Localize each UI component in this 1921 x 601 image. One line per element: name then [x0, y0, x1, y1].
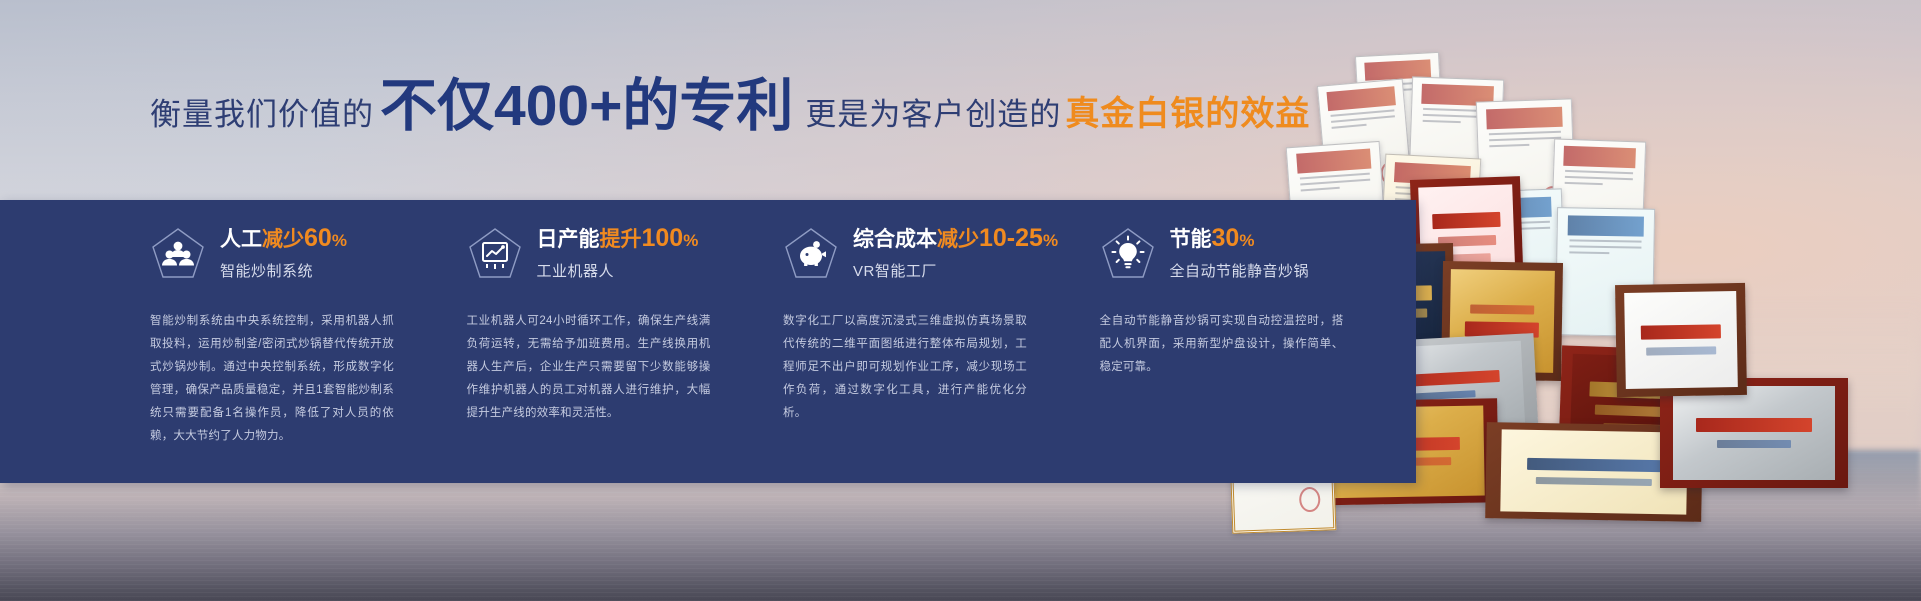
piggy-bank-icon	[783, 226, 839, 282]
award-plaque	[1615, 283, 1747, 397]
certificate-line	[1489, 131, 1560, 135]
certificate-line	[1300, 179, 1370, 186]
feature-title-accent: 减少	[937, 228, 979, 251]
feature-title-unit: %	[1043, 231, 1058, 250]
certificate-line	[1569, 239, 1642, 242]
award-text-bar	[1536, 477, 1651, 486]
award-text-bar	[1646, 346, 1715, 356]
certificate-line	[1569, 251, 1609, 254]
headline-mid: 更是为客户创造的	[805, 89, 1061, 134]
certificate-line	[1565, 176, 1633, 180]
feature-texts: 人工减少60% 智能炒制系统	[220, 222, 347, 281]
award-title-bar	[1640, 324, 1721, 340]
feature-subtitle: 工业机器人	[537, 260, 699, 281]
certificate-header	[1486, 106, 1562, 129]
feature-title-prefix: 节能	[1170, 228, 1212, 251]
feature-title-prefix: 人工	[220, 228, 262, 251]
feature-texts: 节能30% 全自动节能静音炒锅	[1170, 222, 1310, 281]
certificate-line	[1490, 144, 1530, 147]
feature-header: 人工减少60% 智能炒制系统	[150, 222, 467, 294]
feature-title-unit: %	[1239, 231, 1254, 250]
features-panel: 人工减少60% 智能炒制系统 智能炒制系统由中央系统控制，采用机器人抓取投料，运…	[0, 200, 1416, 483]
feature-item[interactable]: 日产能提升100% 工业机器人 工业机器人可24小时循环工作，确保生产线满负荷运…	[467, 222, 784, 472]
chart-board-icon	[467, 226, 523, 282]
feature-title: 人工减少60%	[220, 228, 347, 251]
feature-header: 节能30% 全自动节能静音炒锅	[1100, 222, 1417, 294]
award-title-bar	[1696, 418, 1812, 432]
award-title-bar	[1432, 212, 1501, 230]
certificate-line	[1569, 245, 1642, 248]
feature-body: 全自动节能静音炒锅可实现自动控温控时，搭配人机界面，采用新型炉盘设计，操作简单、…	[1100, 310, 1344, 379]
feature-title-number: 100	[642, 224, 684, 252]
feature-title-unit: %	[683, 231, 698, 250]
headline: 衡量我们价值的 不仅400+的专利 更是为客户创造的 真金白银的效益	[150, 78, 1330, 136]
feature-texts: 综合成本减少10-25% VR智能工厂	[853, 222, 1058, 281]
feature-title: 日产能提升100%	[537, 228, 699, 251]
award-title-bar	[1527, 458, 1661, 473]
certificate-line	[1422, 120, 1460, 123]
award-text-bar	[1470, 304, 1534, 314]
certificate-line	[1489, 137, 1560, 141]
certificate-header	[1567, 215, 1644, 236]
feature-body: 工业机器人可24小时循环工作，确保生产线满负荷运转，无需给予加班费用。生产线换用…	[467, 310, 711, 425]
headline-highlight: 真金白银的效益	[1065, 86, 1310, 135]
certificate-line	[1331, 115, 1395, 123]
certificate-header	[1296, 149, 1371, 174]
headline-lead: 衡量我们价值的	[150, 89, 374, 134]
feature-title-number: 60	[304, 224, 332, 252]
banner-stage: 衡量我们价值的 不仅400+的专利 更是为客户创造的 真金白银的效益	[0, 0, 1921, 601]
lightbulb-icon	[1100, 226, 1156, 282]
feature-title-prefix: 日产能	[537, 228, 600, 251]
feature-body: 智能炒制系统由中央系统控制，采用机器人抓取投料，运用炒制釜/密闭式炒锅替代传统开…	[150, 310, 394, 448]
certificate-seal	[1299, 487, 1321, 513]
feature-subtitle: 全自动节能静音炒锅	[1170, 260, 1310, 281]
feature-title-number: 10-25	[979, 224, 1043, 252]
feature-texts: 日产能提升100% 工业机器人	[537, 222, 699, 281]
feature-title-accent: 提升	[600, 228, 642, 251]
feature-title: 综合成本减少10-25%	[853, 228, 1058, 251]
certificate-header	[1563, 146, 1636, 168]
award-text-bar	[1717, 440, 1791, 449]
features-list: 人工减少60% 智能炒制系统 智能炒制系统由中央系统控制，采用机器人抓取投料，运…	[150, 222, 1416, 472]
feature-header: 综合成本减少10-25% VR智能工厂	[783, 222, 1100, 294]
feature-item[interactable]: 人工减少60% 智能炒制系统 智能炒制系统由中央系统控制，采用机器人抓取投料，运…	[150, 222, 467, 472]
feature-subtitle: 智能炒制系统	[220, 260, 347, 281]
feature-subtitle: VR智能工厂	[853, 260, 1058, 281]
certificate-line	[1565, 170, 1633, 174]
feature-title-number: 30	[1212, 224, 1240, 252]
feature-title-unit: %	[332, 231, 347, 250]
feature-item[interactable]: 节能30% 全自动节能静音炒锅 全自动节能静音炒锅可实现自动控温控时，搭配人机界…	[1100, 222, 1417, 472]
feature-title: 节能30%	[1170, 228, 1255, 251]
people-group-icon	[150, 226, 206, 282]
certificate-line	[1332, 124, 1367, 129]
feature-header: 日产能提升100% 工业机器人	[467, 222, 784, 294]
award-face	[1624, 291, 1737, 389]
award-face	[1673, 386, 1835, 481]
headline-emphasis: 不仅400+的专利	[380, 78, 793, 135]
feature-item[interactable]: 综合成本减少10-25% VR智能工厂 数字化工厂以高度沉浸式三维虚拟仿真场景取…	[783, 222, 1100, 472]
feature-title-accent: 减少	[262, 228, 304, 251]
certificate-line	[1564, 182, 1602, 185]
certificate-line	[1301, 187, 1340, 192]
feature-title-prefix: 综合成本	[853, 228, 937, 251]
certificate-header	[1327, 86, 1396, 111]
feature-body: 数字化工厂以高度沉浸式三维虚拟仿真场景取代传统的二维平面图纸进行整体布局规划，工…	[783, 310, 1027, 425]
